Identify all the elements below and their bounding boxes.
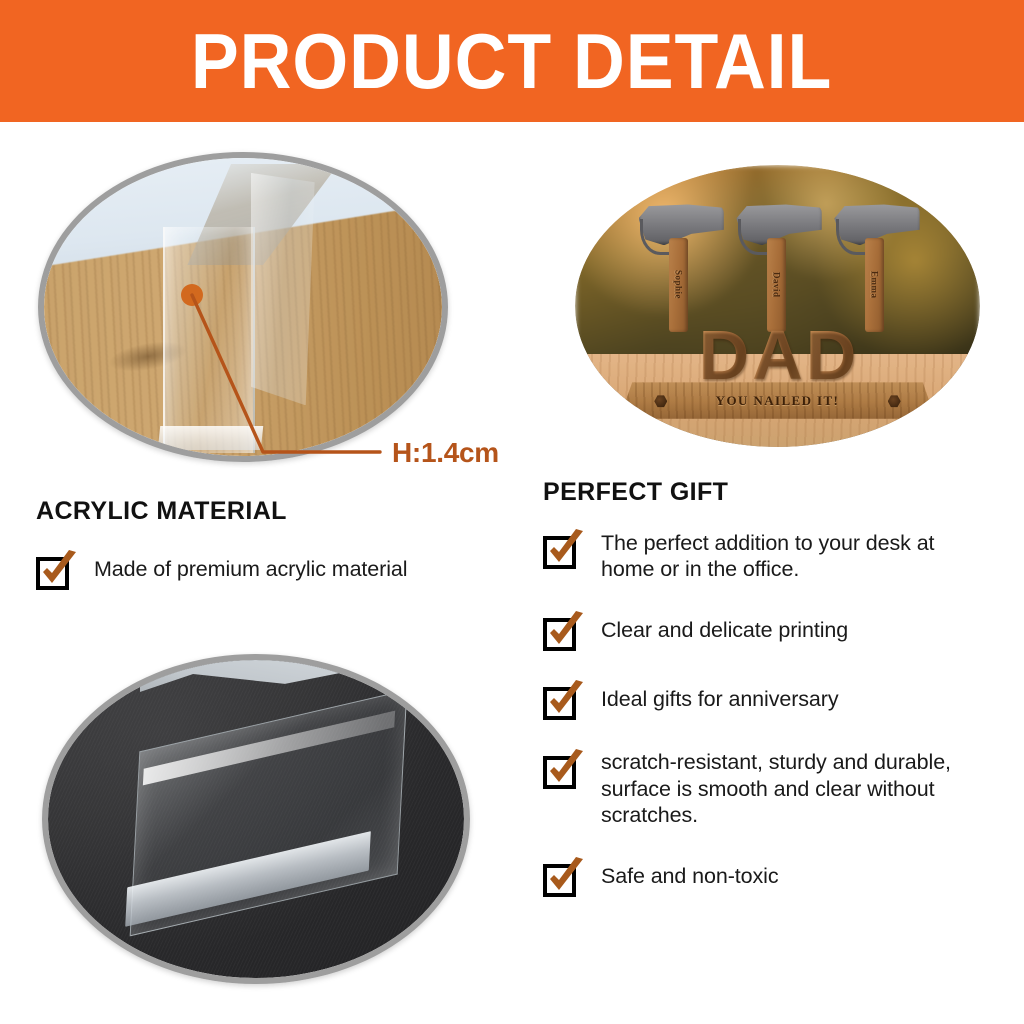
list-item-label: scratch-resistant, sturdy and durable, s… (601, 749, 1001, 828)
sign-base: YOU NAILED IT! (620, 382, 936, 418)
list-item-label: Ideal gifts for anniversary (601, 686, 839, 712)
hammer-claw-icon (738, 219, 767, 255)
list-item: The perfect addition to your desk at hom… (543, 527, 1003, 582)
bullet-list-acrylic-material: Made of premium acrylic material (36, 548, 536, 590)
photo-acrylic-block (42, 654, 470, 984)
list-item: Made of premium acrylic material (36, 548, 536, 590)
list-item: scratch-resistant, sturdy and durable, s… (543, 747, 1003, 828)
callout-label-height: H:1.4cm (392, 437, 499, 469)
list-item-label: Made of premium acrylic material (94, 556, 407, 582)
dad-sign-object: Sophie David Emma (620, 204, 936, 418)
dad-letter-1: D (699, 327, 750, 384)
checkbox-checked-icon[interactable] (36, 550, 76, 590)
bolt-hole-left-icon (654, 395, 667, 408)
list-item-label: The perfect addition to your desk at hom… (601, 530, 993, 582)
check-mark-icon (543, 857, 587, 901)
bullet-list-perfect-gift: The perfect addition to your desk at hom… (543, 527, 1003, 897)
photo-acrylic-block-inner (48, 660, 464, 978)
acrylic-front-face (163, 227, 255, 453)
checkbox-checked-icon[interactable] (543, 857, 583, 897)
list-item-label: Safe and non-toxic (601, 863, 779, 889)
section-title-perfect-gift: PERFECT GIFT (543, 478, 1003, 507)
check-mark-icon (543, 749, 587, 793)
hammer-name-2: David (771, 272, 781, 298)
page-header-banner: PRODUCT DETAIL (0, 0, 1024, 122)
dad-letter-3: D (806, 327, 857, 384)
photo-dad-sign-inner: Sophie David Emma (575, 165, 980, 447)
check-mark-icon (36, 550, 80, 594)
product-detail-page: PRODUCT DETAIL Sophie (0, 0, 1024, 1024)
list-item: Clear and delicate printing (543, 609, 1003, 651)
page-title: PRODUCT DETAIL (191, 22, 832, 100)
dad-letter-2: A (752, 327, 803, 384)
acrylic-bottom-edge (158, 426, 264, 450)
checkbox-checked-icon[interactable] (543, 680, 583, 720)
checkbox-checked-icon[interactable] (543, 749, 583, 789)
checkbox-checked-icon[interactable] (543, 529, 583, 569)
list-item-label: Clear and delicate printing (601, 617, 848, 643)
photo-acrylic-edge (38, 152, 448, 462)
check-mark-icon (543, 680, 587, 724)
bolt-hole-right-icon (888, 395, 901, 408)
check-mark-icon (543, 529, 587, 573)
dad-letters: D A D (626, 299, 929, 385)
check-mark-icon (543, 611, 587, 655)
checkbox-checked-icon[interactable] (543, 611, 583, 651)
hammer-claw-icon (640, 219, 669, 255)
photo-acrylic-edge-inner (44, 158, 442, 456)
acrylic-side-face (251, 173, 315, 405)
section-perfect-gift: PERFECT GIFT The perfect addition to you… (543, 478, 1003, 897)
sign-base-text: YOU NAILED IT! (716, 393, 840, 409)
section-title-acrylic-material: ACRYLIC MATERIAL (36, 497, 536, 526)
hammer-name-1: Sophie (674, 270, 684, 299)
list-item: Ideal gifts for anniversary (543, 678, 1003, 720)
photo-dad-sign: Sophie David Emma (575, 165, 980, 447)
section-acrylic-material: ACRYLIC MATERIAL Made of premium acrylic… (36, 497, 536, 590)
hammer-claw-icon (836, 219, 865, 255)
hammer-name-3: Emma (869, 271, 879, 299)
list-item: Safe and non-toxic (543, 855, 1003, 897)
